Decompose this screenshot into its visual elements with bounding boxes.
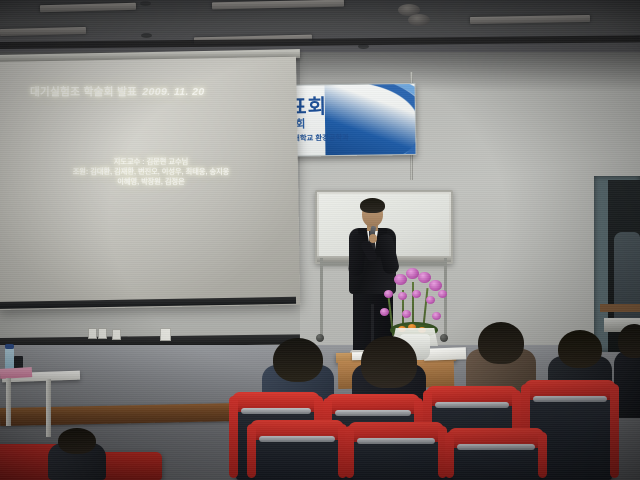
orchid-bloom (398, 292, 407, 300)
slide-members-line-2: 이혜영, 박장원, 김정은 (0, 176, 302, 187)
ceiling-dome-light (408, 14, 430, 26)
orchid-bloom (438, 290, 447, 298)
orchid-bloom (412, 290, 421, 298)
slide-title-date: 2009. 11. 20 (142, 86, 204, 98)
auditorium-seat[interactable] (352, 428, 440, 480)
seat-side-panel (247, 424, 256, 478)
whiteboard-leg (320, 258, 323, 336)
orchid-bloom (380, 308, 389, 316)
lecture-hall-photo: 발표회 발표회 : 대구대학교 환경공학과 대기실험조 학술회 발표2009. … (0, 0, 640, 480)
seat-side-panel (345, 426, 354, 478)
slide-title: 대기실험조 학술회 발표2009. 11. 20 (30, 84, 270, 99)
presenter-hair (360, 198, 385, 213)
audience-person-head (273, 338, 323, 382)
seat-chrome-bar (435, 402, 509, 408)
audience-person-head (58, 428, 96, 454)
slide-title-text: 대기실험조 학술회 발표 (30, 86, 137, 98)
seat-chrome-bar (533, 396, 607, 402)
ceiling-vent (141, 33, 152, 38)
ceiling (0, 0, 640, 58)
seat-chrome-bar (335, 410, 411, 416)
audience-person-head (618, 324, 640, 358)
seat-side-panel (610, 384, 619, 478)
seat-side-panel (229, 396, 238, 478)
ceiling-light-fixture (212, 0, 344, 9)
orchid-bloom (418, 272, 431, 283)
orchid-bloom (402, 310, 411, 318)
ceiling-light-fixture (0, 27, 86, 36)
auditorium-seat[interactable] (254, 426, 340, 480)
ceiling-light-fixture (40, 3, 136, 13)
wall-outlet (160, 328, 171, 341)
audience-person-head (558, 330, 602, 368)
seat-side-panel (445, 432, 454, 478)
seat-chrome-bar (457, 444, 534, 450)
ceiling-light-fixture (470, 15, 590, 24)
orchid-bloom (432, 312, 441, 320)
side-table-leg (6, 378, 11, 426)
audience-person (48, 428, 106, 480)
wall-outlet (112, 329, 121, 340)
seat-chrome-bar (241, 408, 311, 414)
orchid-bloom (394, 274, 407, 285)
wall-outlet (88, 328, 97, 339)
pink-paper (0, 367, 32, 379)
banner-wave-graphic (324, 83, 416, 157)
seat-side-panel (538, 432, 547, 478)
audience-person-head (478, 322, 524, 364)
wall-outlet (98, 328, 107, 339)
orchid-bloom (384, 290, 393, 298)
presenter-hand (369, 234, 377, 243)
auditorium-seat[interactable] (452, 434, 540, 480)
water-bottle-cap (5, 344, 14, 349)
ceiling-vent (140, 1, 151, 6)
seat-chrome-bar (259, 436, 335, 442)
audience-person-head (361, 336, 417, 388)
doorway-desk-edge (600, 304, 640, 312)
orchid-bloom (426, 296, 435, 304)
seat-chrome-bar (357, 438, 434, 444)
